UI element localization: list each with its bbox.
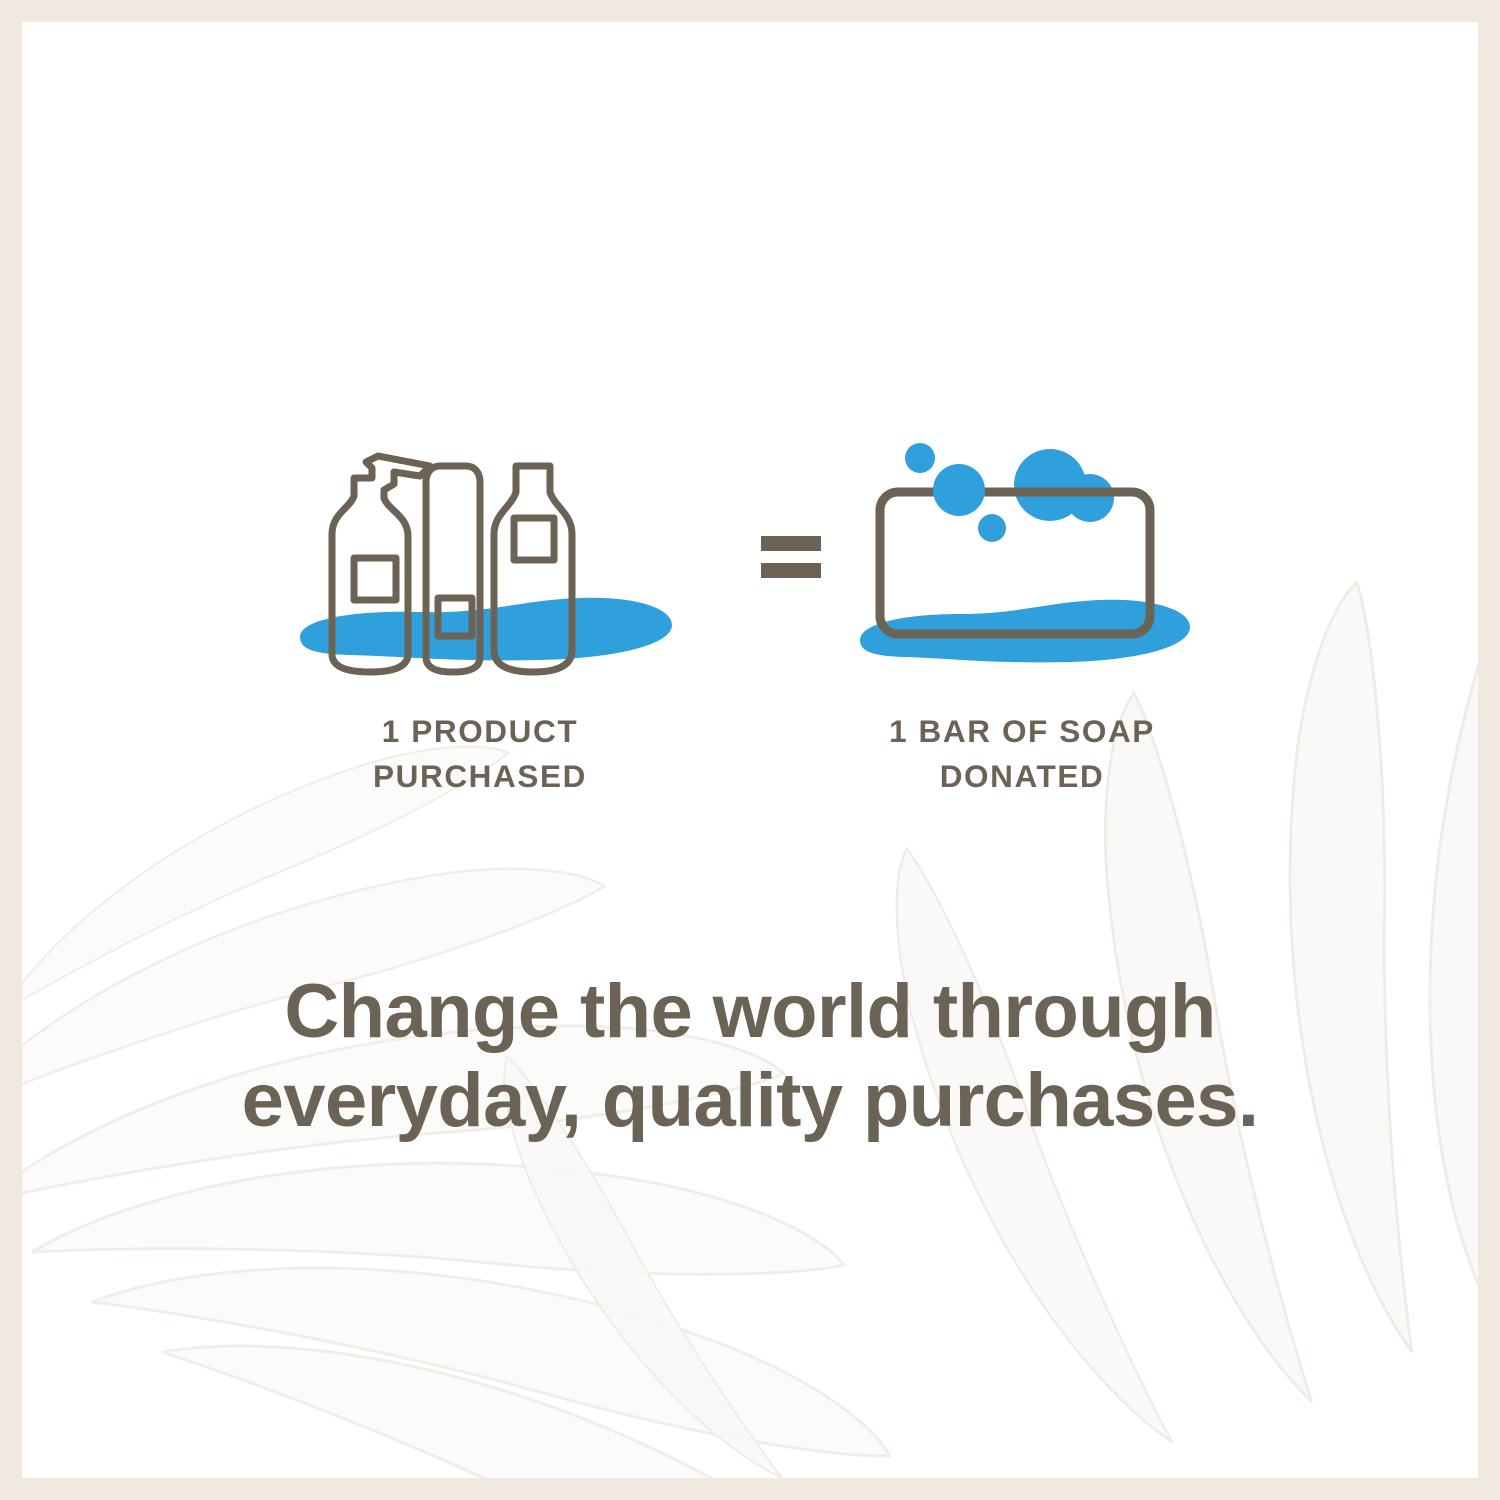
headline-text: Change the world through everyday, quali… [82,968,1418,1146]
promo-card: 1 PRODUCT PURCHASED [22,22,1478,1478]
product-icon-column: 1 PRODUCT PURCHASED [270,422,690,798]
soap-caption: 1 BAR OF SOAP DONATED [812,709,1232,798]
product-caption: 1 PRODUCT PURCHASED [270,709,690,798]
soap-bar-with-bubbles-icon [812,422,1232,687]
three-bottles-icon [270,422,690,687]
promo-graphic: 1 PRODUCT PURCHASED [0,0,1500,1500]
donation-infographic: 1 PRODUCT PURCHASED [22,422,1478,822]
foam-cluster [1014,449,1114,522]
soap-icon-column: 1 BAR OF SOAP DONATED [812,422,1232,798]
